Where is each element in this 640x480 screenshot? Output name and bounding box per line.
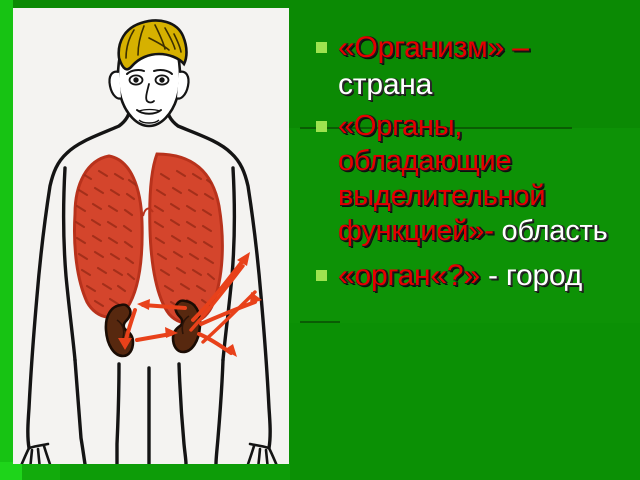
illustration-image	[13, 8, 289, 464]
bullet-2-white-text: область	[502, 215, 608, 247]
text-content-column: «Организм» – страна «Органы, обладающие …	[300, 0, 640, 480]
square-bullet-icon	[316, 42, 327, 53]
square-bullet-icon	[316, 270, 327, 281]
bullet-text-3: «орган«?» - город	[338, 258, 640, 295]
bullet-1-red-text: «Организм» –	[338, 31, 529, 64]
background-bottom-strip-1	[0, 462, 22, 480]
background-bottom-strip-2	[22, 462, 60, 480]
list-item[interactable]: «Органы, обладающие выделительной функци…	[300, 109, 640, 248]
background-left-strip	[0, 0, 13, 480]
bullet-text-1: «Организм» – страна	[338, 30, 640, 103]
list-item[interactable]: «орган«?» - город	[300, 258, 640, 295]
list-item[interactable]: «Организм» – страна	[300, 30, 640, 103]
square-bullet-icon	[316, 121, 327, 132]
background-bottom-strip-3	[60, 462, 290, 480]
bullet-1-white-text: страна	[338, 68, 432, 101]
bullet-3-white-text: - город	[480, 259, 582, 292]
bullet-list: «Организм» – страна «Органы, обладающие …	[300, 30, 640, 301]
bullet-text-2: «Органы, обладающие выделительной функци…	[338, 109, 640, 248]
bullet-3-red-text: «орган«?»	[338, 259, 480, 292]
divider-line-2	[300, 321, 340, 323]
slide-canvas: «Организм» – страна «Органы, обладающие …	[0, 0, 640, 480]
